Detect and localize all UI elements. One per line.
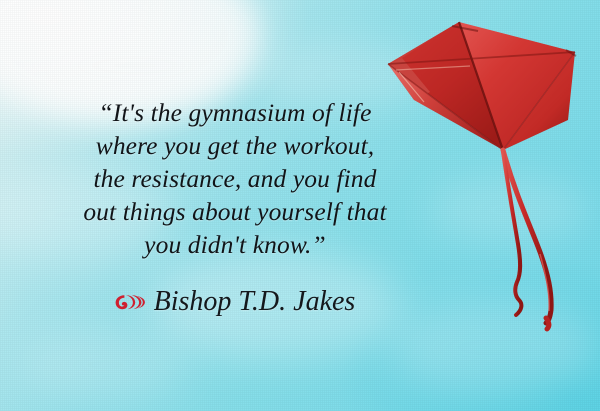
quote-image-canvas: “It's the gymnasium of life where you ge… [0, 0, 600, 411]
quote-line: the resistance, and you find [25, 162, 445, 195]
red-swirl-flourish-icon [115, 292, 145, 312]
quote-text-block: “It's the gymnasium of life where you ge… [25, 96, 445, 261]
quote-line: “It's the gymnasium of life [25, 96, 445, 129]
quote-line: out things about yourself that [25, 195, 445, 228]
quote-line: where you get the workout, [25, 129, 445, 162]
attribution-name: Bishop T.D. Jakes [154, 286, 356, 318]
quote-line: you didn't know.” [25, 228, 445, 261]
attribution: Bishop T.D. Jakes [25, 286, 445, 318]
